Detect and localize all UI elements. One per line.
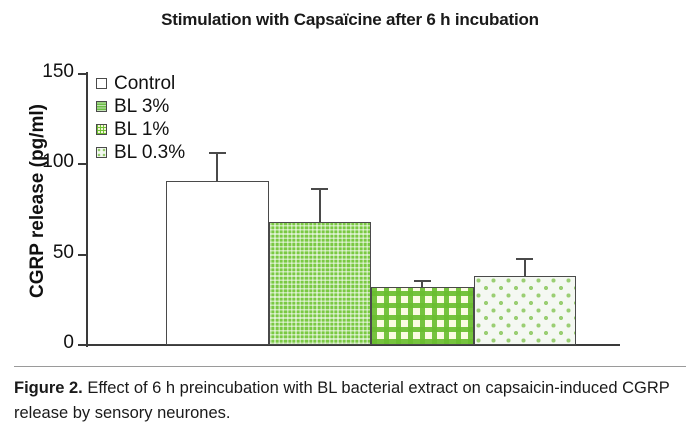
error-bar-cap-bl-3 xyxy=(311,188,328,190)
error-bar-cap-bl-1 xyxy=(414,280,431,282)
error-bar-stem-control xyxy=(216,152,218,181)
y-axis-tick-mark xyxy=(78,344,86,346)
bar-bl-3 xyxy=(269,222,372,345)
error-bar-cap-bl-0-3 xyxy=(516,258,533,260)
y-axis-tick-label: 100 xyxy=(20,151,74,173)
y-axis-tick-mark xyxy=(78,163,86,165)
error-bar-cap-control xyxy=(209,152,226,154)
y-axis-tick-label: 0 xyxy=(20,332,74,354)
y-axis-tick-mark xyxy=(78,254,86,256)
y-axis-tick-label: 50 xyxy=(20,242,74,264)
figure-caption: Figure 2. Effect of 6 h preincubation wi… xyxy=(14,376,678,426)
plot-area xyxy=(86,74,620,345)
y-axis-tick-mark xyxy=(78,73,86,75)
chart-title: Stimulation with Capsaïcine after 6 h in… xyxy=(0,10,700,30)
bar-bl-1 xyxy=(371,287,474,345)
figure-panel: Stimulation with Capsaïcine after 6 h in… xyxy=(0,0,700,366)
bar-bl-0-3 xyxy=(474,276,577,345)
figure-caption-label: Figure 2. xyxy=(14,379,83,397)
error-bar-stem-bl-0-3 xyxy=(524,258,526,276)
caption-divider xyxy=(14,366,686,367)
bar-control xyxy=(166,181,269,345)
y-axis-tick-label: 150 xyxy=(20,61,74,83)
figure-caption-text: Effect of 6 h preincubation with BL bact… xyxy=(14,379,669,422)
error-bar-stem-bl-3 xyxy=(319,188,321,222)
y-axis-title: CGRP release (pg/ml) xyxy=(27,66,49,336)
